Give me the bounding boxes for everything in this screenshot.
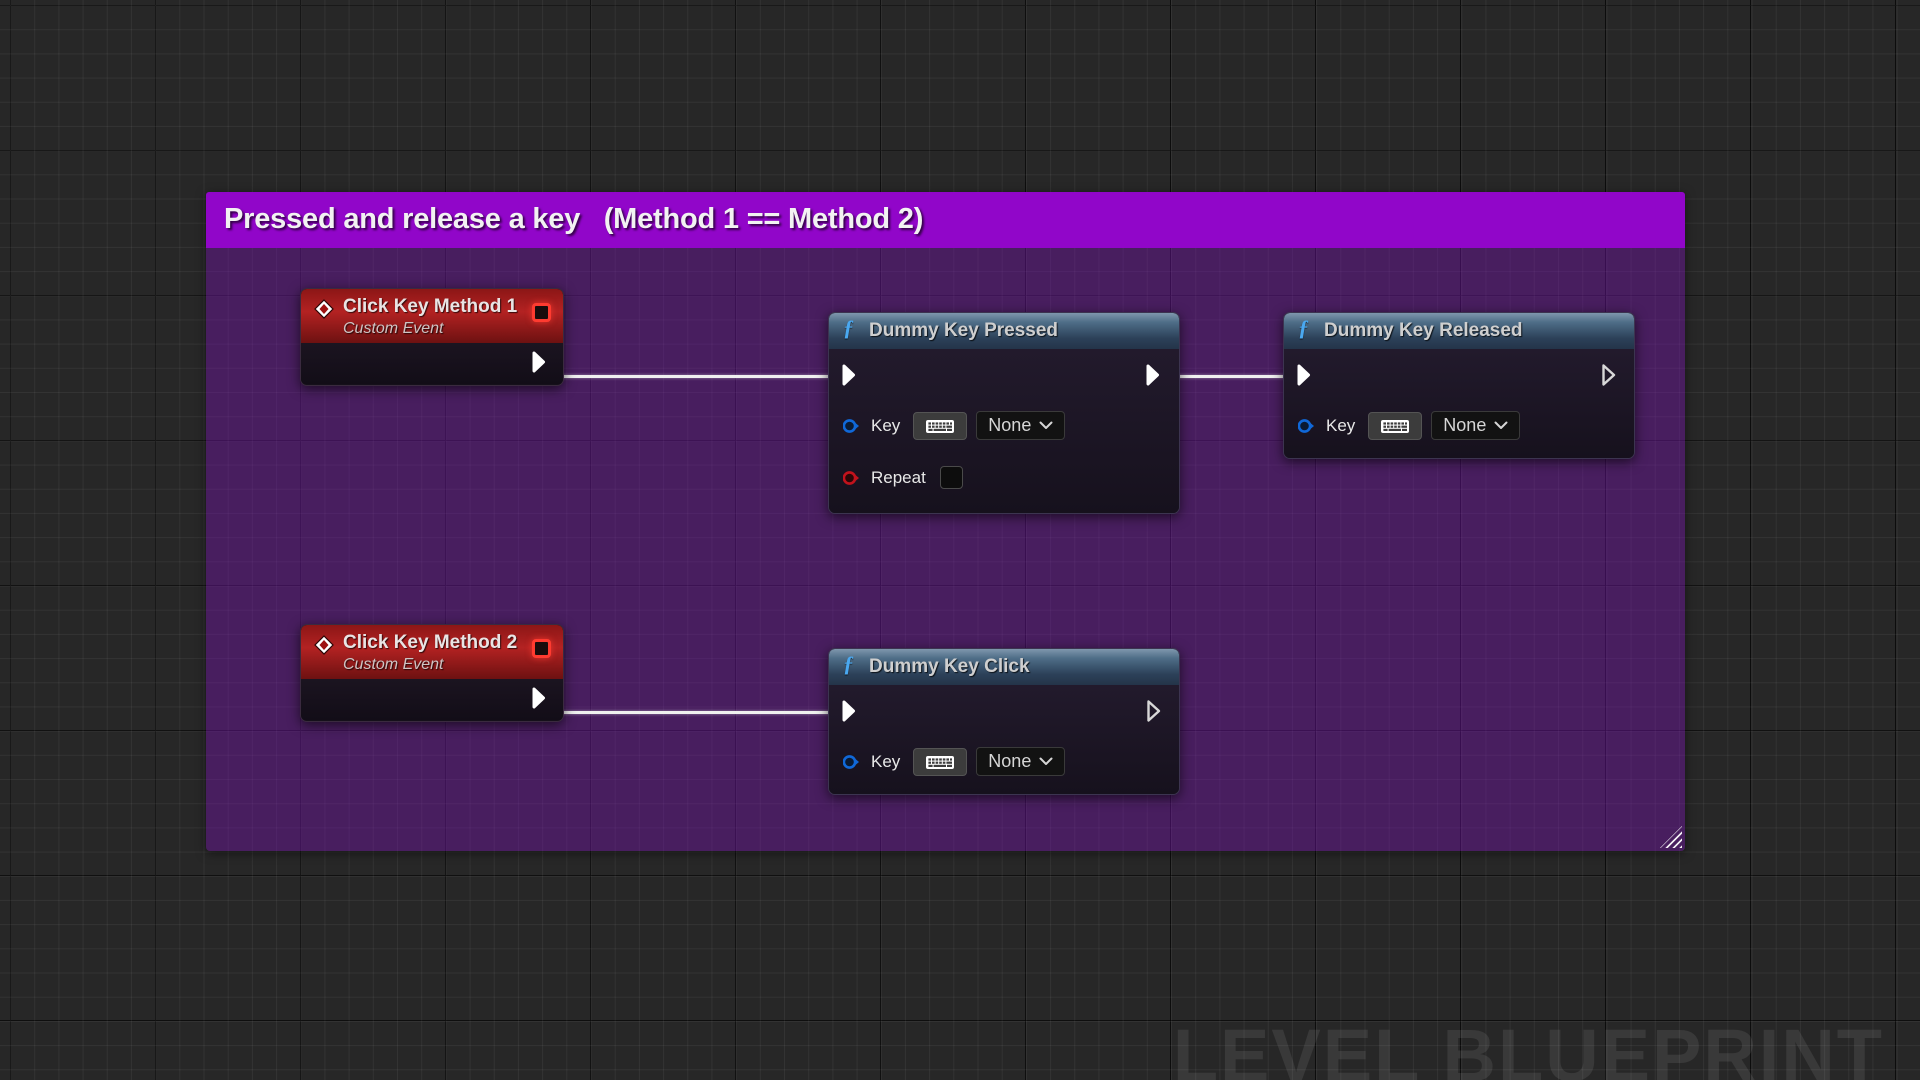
keyboard-icon bbox=[1380, 417, 1410, 435]
level-blueprint-watermark: LEVEL BLUEPRINT bbox=[1173, 1013, 1884, 1080]
function-f-icon: ƒ bbox=[1298, 315, 1309, 341]
event-node-subtitle: Custom Event bbox=[343, 656, 443, 674]
chevron-down-icon bbox=[1039, 757, 1053, 766]
pin-label-key: Key bbox=[871, 416, 900, 436]
exec-output-pin[interactable] bbox=[1146, 699, 1165, 721]
function-node-title: Dummy Key Released bbox=[1324, 320, 1523, 342]
pin-label-key: Key bbox=[1326, 416, 1355, 436]
node-dummy-key-released[interactable]: ƒ Dummy Key Released bbox=[1283, 312, 1635, 459]
event-node-title: Click Key Method 1 bbox=[343, 296, 517, 318]
key-value-dropdown[interactable]: None bbox=[976, 411, 1065, 440]
key-value-dropdown[interactable]: None bbox=[1431, 411, 1520, 440]
keyboard-icon-button[interactable] bbox=[1368, 412, 1422, 440]
pin-label-repeat: Repeat bbox=[871, 468, 926, 488]
pin-label-key: Key bbox=[871, 752, 900, 772]
repeat-checkbox[interactable] bbox=[940, 466, 963, 489]
chevron-down-icon bbox=[1039, 421, 1053, 430]
wire-method1-to-pressed[interactable] bbox=[560, 375, 852, 378]
node-dummy-key-pressed[interactable]: ƒ Dummy Key Pressed bbox=[828, 312, 1180, 514]
key-dropdown-value: None bbox=[988, 751, 1031, 772]
exec-output-pin[interactable] bbox=[1601, 363, 1620, 385]
exec-input-pin[interactable] bbox=[1297, 364, 1316, 386]
event-node-header[interactable]: Click Key Method 1 Custom Event bbox=[301, 289, 563, 343]
key-dropdown-value: None bbox=[1443, 415, 1486, 436]
key-value-dropdown[interactable]: None bbox=[976, 747, 1065, 776]
node-click-key-method-2[interactable]: Click Key Method 2 Custom Event bbox=[300, 624, 564, 722]
node-dummy-key-click[interactable]: ƒ Dummy Key Click bbox=[828, 648, 1180, 795]
event-node-title: Click Key Method 2 bbox=[343, 632, 517, 654]
key-struct-pin-icon[interactable] bbox=[843, 419, 860, 433]
event-node-body bbox=[301, 343, 563, 384]
key-struct-pin-icon[interactable] bbox=[843, 755, 860, 769]
delegate-output-pin[interactable] bbox=[532, 303, 551, 322]
exec-output-pin[interactable] bbox=[532, 687, 551, 709]
exec-input-pin[interactable] bbox=[842, 364, 861, 386]
comment-title[interactable]: Pressed and release a key (Method 1 == M… bbox=[224, 203, 923, 236]
event-node-subtitle: Custom Event bbox=[343, 320, 443, 338]
function-node-header[interactable]: ƒ Dummy Key Pressed bbox=[829, 313, 1179, 349]
function-node-body: Key bbox=[829, 685, 1179, 794]
keyboard-icon bbox=[925, 753, 955, 771]
chevron-down-icon bbox=[1494, 421, 1508, 430]
function-node-body: Key bbox=[829, 349, 1179, 513]
pin-row-key: Key bbox=[843, 747, 1065, 776]
key-struct-pin-icon[interactable] bbox=[1298, 419, 1315, 433]
event-diamond-icon bbox=[314, 635, 334, 655]
keyboard-icon bbox=[925, 417, 955, 435]
keyboard-icon-button[interactable] bbox=[913, 412, 967, 440]
comment-header-bar[interactable]: Pressed and release a key (Method 1 == M… bbox=[206, 192, 1685, 248]
pin-row-repeat: Repeat bbox=[843, 466, 963, 489]
key-dropdown-value: None bbox=[988, 415, 1031, 436]
node-click-key-method-1[interactable]: Click Key Method 1 Custom Event bbox=[300, 288, 564, 386]
repeat-boolean-pin-icon[interactable] bbox=[843, 471, 860, 485]
keyboard-icon-button[interactable] bbox=[913, 748, 967, 776]
function-node-header[interactable]: ƒ Dummy Key Click bbox=[829, 649, 1179, 685]
event-node-body bbox=[301, 679, 563, 720]
delegate-output-pin[interactable] bbox=[532, 639, 551, 658]
function-node-header[interactable]: ƒ Dummy Key Released bbox=[1284, 313, 1634, 349]
function-node-title: Dummy Key Pressed bbox=[869, 320, 1058, 342]
exec-input-pin[interactable] bbox=[842, 700, 861, 722]
function-f-icon: ƒ bbox=[843, 651, 854, 677]
pin-row-key: Key bbox=[1298, 411, 1520, 440]
pin-row-key: Key bbox=[843, 411, 1065, 440]
event-diamond-icon bbox=[314, 299, 334, 319]
comment-resize-handle[interactable] bbox=[1660, 826, 1682, 848]
exec-output-pin[interactable] bbox=[532, 351, 551, 373]
event-node-header[interactable]: Click Key Method 2 Custom Event bbox=[301, 625, 563, 679]
blueprint-graph-canvas[interactable]: LEVEL BLUEPRINT Pressed and release a ke… bbox=[0, 0, 1920, 1080]
function-node-body: Key bbox=[1284, 349, 1634, 458]
function-f-icon: ƒ bbox=[843, 315, 854, 341]
wire-method2-to-click[interactable] bbox=[560, 711, 852, 714]
exec-output-pin[interactable] bbox=[1146, 364, 1165, 386]
function-node-title: Dummy Key Click bbox=[869, 656, 1030, 678]
